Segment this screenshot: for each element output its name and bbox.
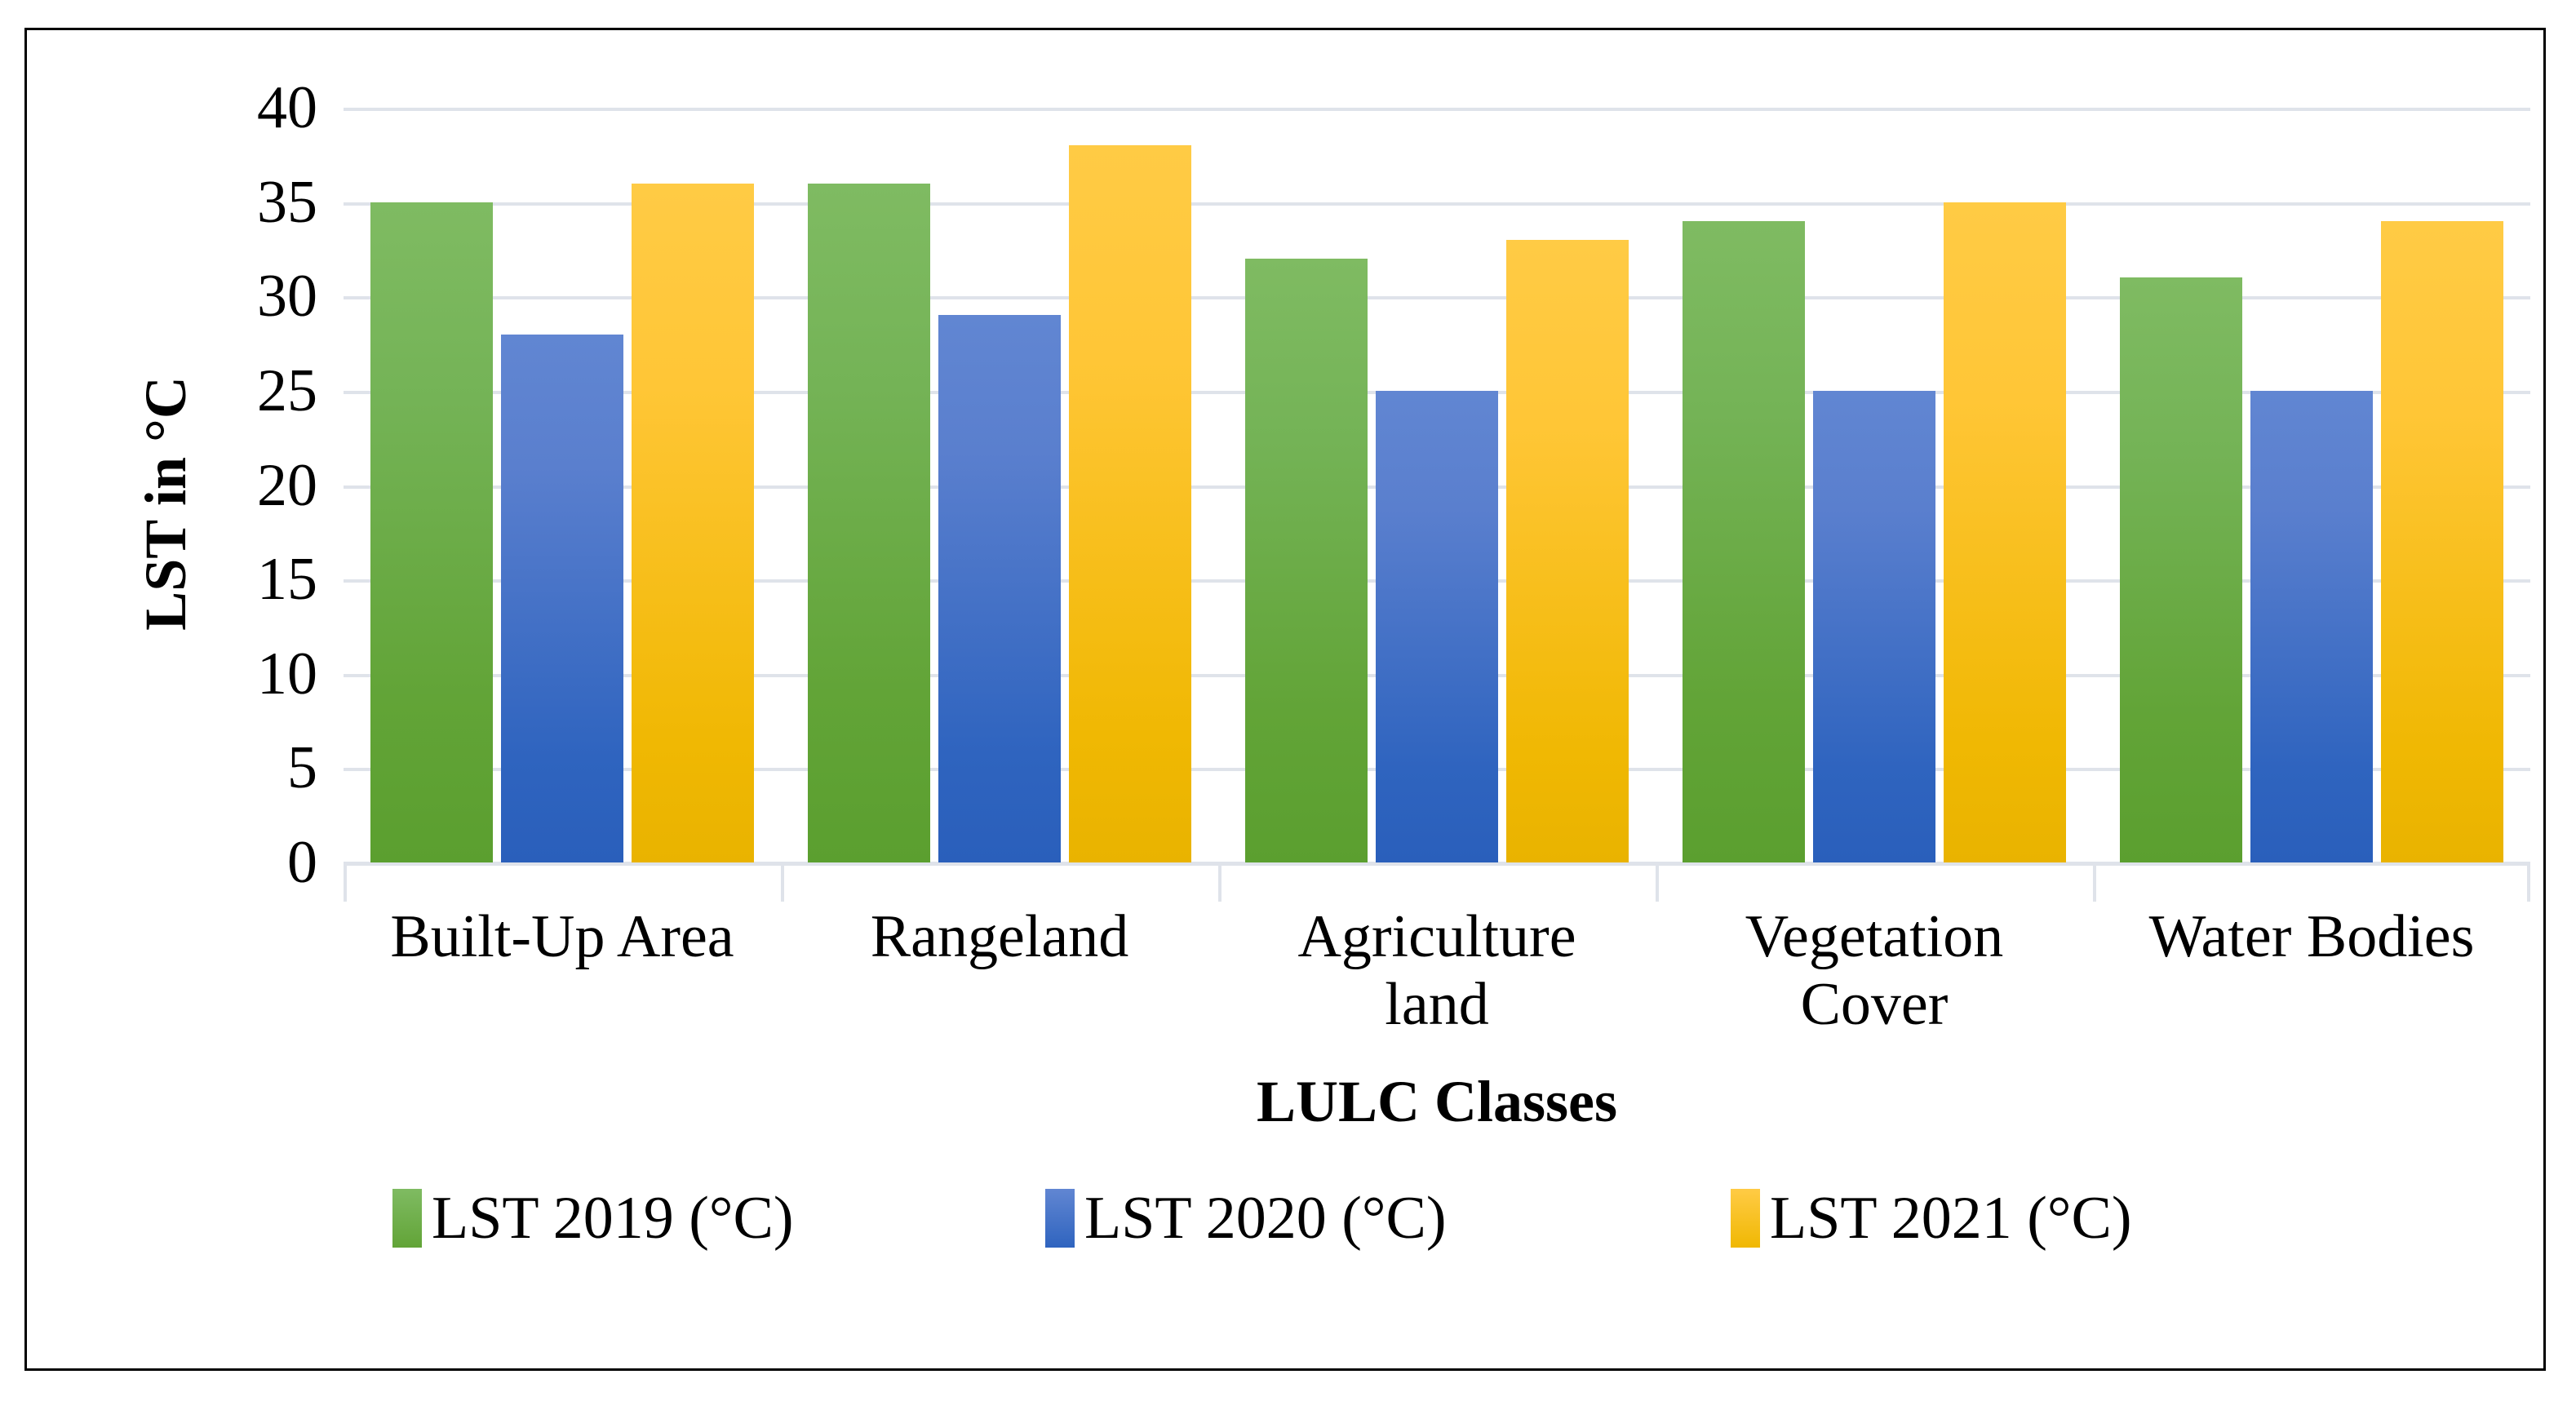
category-separator-tick xyxy=(1656,862,1659,902)
bar[interactable] xyxy=(1245,259,1368,862)
bar-group xyxy=(781,108,1218,862)
bar[interactable] xyxy=(501,335,623,863)
y-axis-tick-labels: 4035302520151050 xyxy=(174,108,337,862)
x-category-label-line: Agriculture xyxy=(1218,903,1656,971)
legend-swatch-icon xyxy=(1731,1189,1760,1248)
plot-area xyxy=(344,108,2530,862)
bar[interactable] xyxy=(1506,240,1629,862)
x-category-label-line: Rangeland xyxy=(781,903,1218,971)
bar[interactable] xyxy=(808,184,930,863)
y-tick-label: 30 xyxy=(257,266,317,326)
bar[interactable] xyxy=(1813,391,1935,862)
bar[interactable] xyxy=(938,315,1061,862)
x-category-label-line: Built-Up Area xyxy=(344,903,781,971)
bar[interactable] xyxy=(2120,277,2242,862)
x-category-label: Water Bodies xyxy=(2093,903,2530,971)
y-tick-label: 15 xyxy=(257,549,317,610)
bar[interactable] xyxy=(1944,202,2066,862)
x-category-label-line: Cover xyxy=(1656,971,2093,1039)
category-separator-tick xyxy=(1218,862,1221,902)
bar-group xyxy=(344,108,781,862)
chart-legend: LST 2019 (°C)LST 2020 (°C)LST 2021 (°C) xyxy=(344,1169,2530,1267)
x-category-label: Rangeland xyxy=(781,903,1218,971)
x-axis-title: LULC Classes xyxy=(344,1068,2530,1136)
bar[interactable] xyxy=(632,184,754,863)
x-category-label-line: Water Bodies xyxy=(2093,903,2530,971)
category-separator-tick xyxy=(781,862,784,902)
category-separator-tick xyxy=(344,862,347,902)
bar-group xyxy=(2093,108,2530,862)
bar[interactable] xyxy=(1376,391,1498,862)
y-tick-label: 20 xyxy=(257,455,317,516)
figure-frame: LST in °C 4035302520151050 Built-Up Area… xyxy=(24,28,2546,1371)
legend-item[interactable]: LST 2020 (°C) xyxy=(1045,1169,1446,1267)
bar[interactable] xyxy=(1683,221,1805,862)
x-category-label: Built-Up Area xyxy=(344,903,781,971)
legend-swatch-icon xyxy=(392,1189,422,1248)
y-tick-label: 0 xyxy=(287,832,317,893)
y-tick-label: 5 xyxy=(287,738,317,798)
legend-swatch-icon xyxy=(1045,1189,1075,1248)
bar-group xyxy=(1656,108,2093,862)
category-separator-tick xyxy=(2093,862,2096,902)
x-category-label-line: Vegetation xyxy=(1656,903,2093,971)
y-tick-label: 40 xyxy=(257,78,317,138)
y-tick-label: 35 xyxy=(257,172,317,233)
x-axis-category-labels: Built-Up AreaRangelandAgriculturelandVeg… xyxy=(344,903,2530,1058)
chart-page: LST in °C 4035302520151050 Built-Up Area… xyxy=(0,0,2576,1401)
legend-item[interactable]: LST 2021 (°C) xyxy=(1731,1169,2131,1267)
y-tick-label: 10 xyxy=(257,644,317,704)
legend-label: LST 2020 (°C) xyxy=(1084,1188,1446,1248)
legend-item[interactable]: LST 2019 (°C) xyxy=(392,1169,793,1267)
x-category-label-line: land xyxy=(1218,971,1656,1039)
bar[interactable] xyxy=(2381,221,2503,862)
bar[interactable] xyxy=(2250,391,2373,862)
x-category-label: Agricultureland xyxy=(1218,903,1656,1039)
x-category-label: VegetationCover xyxy=(1656,903,2093,1039)
legend-label: LST 2021 (°C) xyxy=(1770,1188,2131,1248)
legend-label: LST 2019 (°C) xyxy=(432,1188,793,1248)
category-separator-tick xyxy=(2527,862,2530,902)
bar[interactable] xyxy=(370,202,493,862)
bar[interactable] xyxy=(1069,145,1191,862)
bar-group xyxy=(1218,108,1656,862)
y-tick-label: 25 xyxy=(257,361,317,421)
